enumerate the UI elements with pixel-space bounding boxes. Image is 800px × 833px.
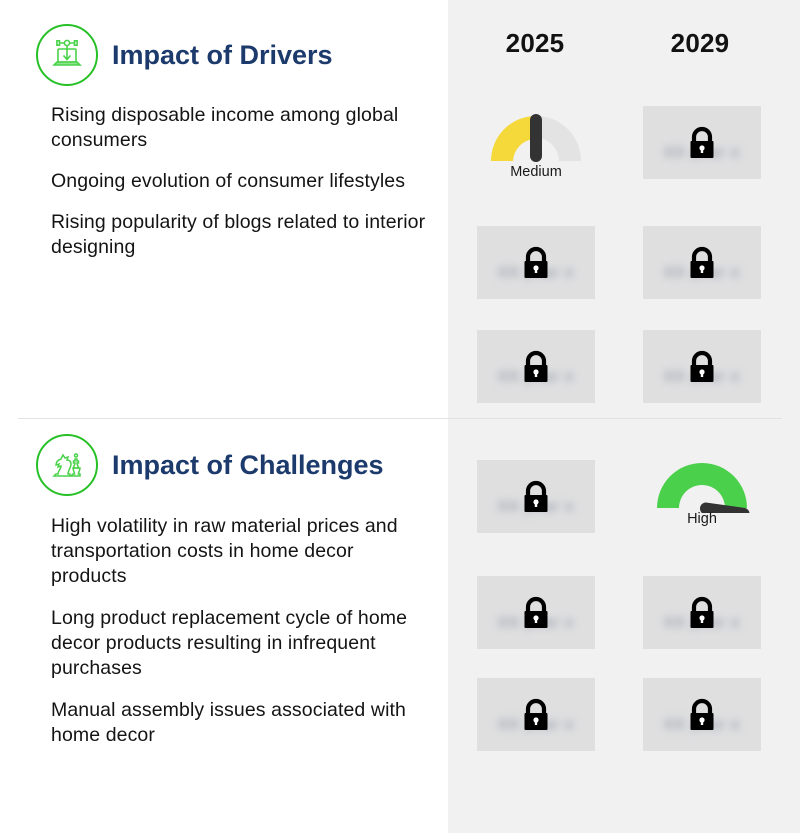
gauge-label: Medium (477, 164, 595, 180)
locked-tile[interactable]: XX year x (477, 678, 595, 751)
lock-icon (685, 347, 719, 387)
lock-icon (519, 695, 553, 735)
chess-pieces-icon (36, 434, 98, 496)
section-title-drivers: Impact of Drivers (112, 40, 333, 71)
gauge-dial (477, 108, 595, 164)
impact-matrix-infographic: 2025 2029 Impact of Drivers Rising dispo… (0, 0, 800, 833)
challenges-bullet-list: High volatility in raw material prices a… (51, 514, 431, 765)
locked-tile[interactable]: XX year x (477, 226, 595, 299)
section-header-drivers: Impact of Drivers (36, 24, 333, 86)
gauge-dial (643, 455, 761, 511)
drivers-growth-icon (36, 24, 98, 86)
locked-tile[interactable]: XX year x (643, 226, 761, 299)
section-header-challenges: Impact of Challenges (36, 434, 384, 496)
lock-icon (685, 593, 719, 633)
gauge-drivers-r1-2025: Medium (477, 108, 595, 186)
list-item: Manual assembly issues associated with h… (51, 698, 431, 748)
lock-icon (519, 477, 553, 517)
list-item: Ongoing evolution of consumer lifestyles (51, 169, 431, 194)
list-item: High volatility in raw material prices a… (51, 514, 431, 589)
list-item: Rising popularity of blogs related to in… (51, 210, 431, 260)
gauge-challenges-r1-2029: High (643, 455, 761, 533)
list-item: Rising disposable income among global co… (51, 103, 431, 153)
locked-tile[interactable]: XX year x (643, 106, 761, 179)
locked-tile[interactable]: XX year x (477, 460, 595, 533)
gauge-label: High (643, 511, 761, 527)
locked-tile[interactable]: XX year x (477, 330, 595, 403)
lock-icon (685, 695, 719, 735)
list-item: Long product replacement cycle of home d… (51, 606, 431, 681)
locked-tile[interactable]: XX year x (643, 678, 761, 751)
lock-icon (685, 243, 719, 283)
column-header-2025: 2025 (475, 28, 595, 59)
locked-tile[interactable]: XX year x (477, 576, 595, 649)
locked-tile[interactable]: XX year x (643, 330, 761, 403)
lock-icon (685, 123, 719, 163)
lock-icon (519, 347, 553, 387)
section-divider (18, 418, 782, 419)
section-title-challenges: Impact of Challenges (112, 450, 384, 481)
drivers-bullet-list: Rising disposable income among global co… (51, 103, 431, 276)
lock-icon (519, 593, 553, 633)
locked-tile[interactable]: XX year x (643, 576, 761, 649)
lock-icon (519, 243, 553, 283)
column-header-2029: 2029 (640, 28, 760, 59)
